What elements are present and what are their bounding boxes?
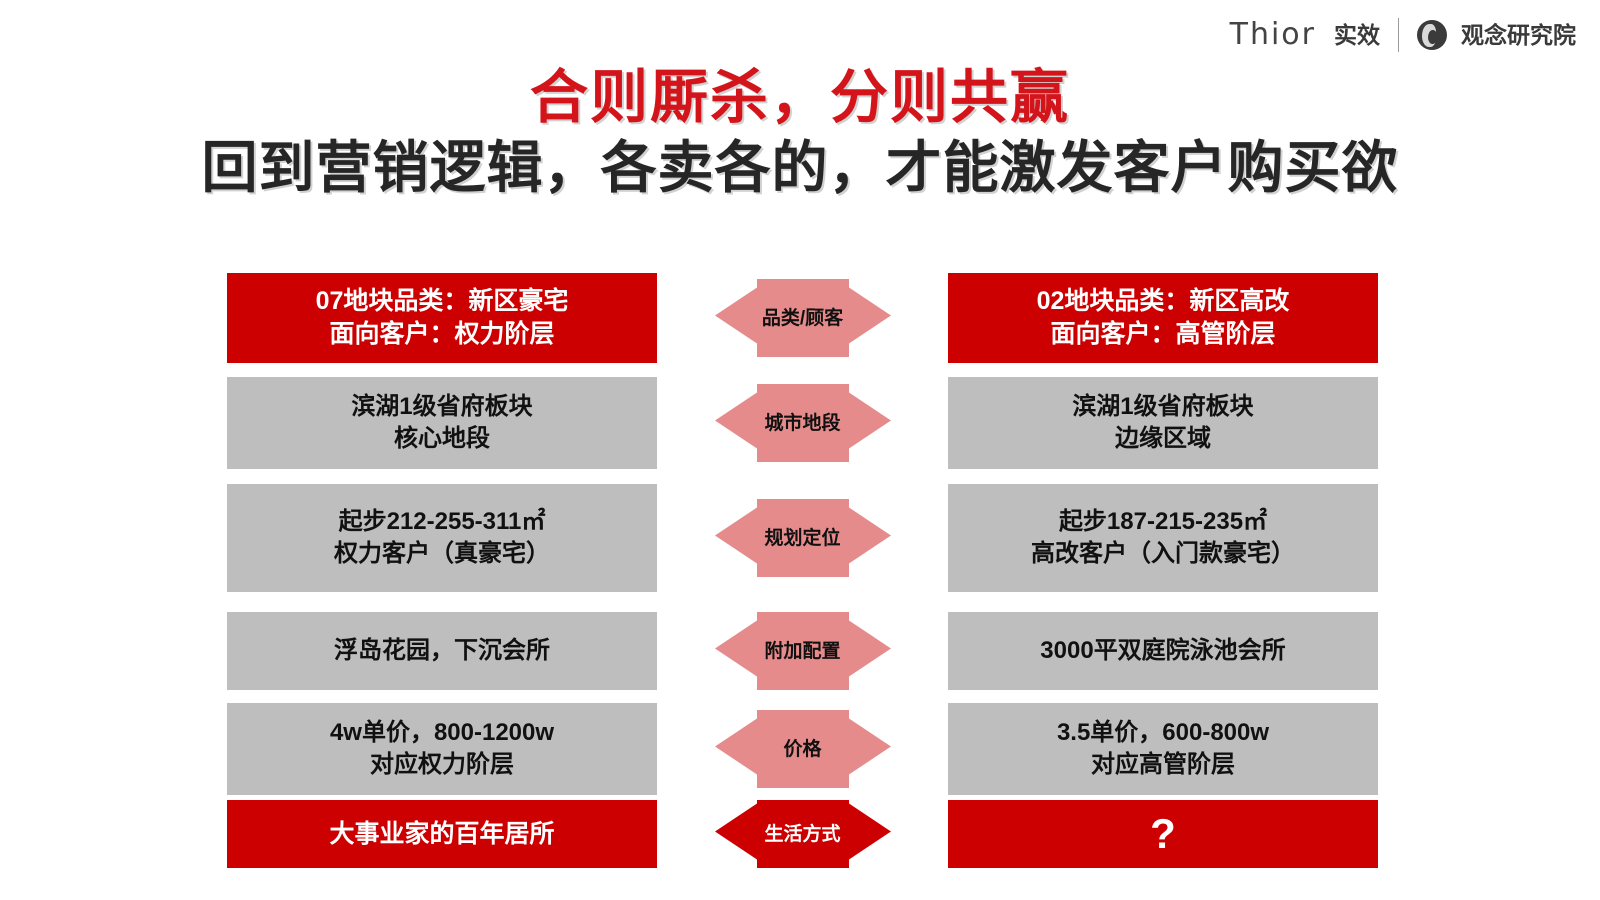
card-line: 4w单价，800-1200w (330, 717, 554, 749)
arrow-left-head-icon (715, 277, 757, 360)
connector-label: 附加配置 (757, 612, 849, 690)
arrow-left-head-icon (715, 798, 757, 871)
arrow-right-head-icon (849, 610, 891, 693)
card-line: 滨湖1级省府板块 (351, 391, 532, 423)
card-line: 起步187-215-235㎡ (1059, 506, 1267, 538)
compare-connector-2: 规划定位 (657, 484, 948, 592)
compare-connector-3: 附加配置 (657, 612, 948, 690)
card-line: 起步212-255-311㎡ (339, 506, 546, 538)
card-line: 3.5单价，600-800w (1057, 717, 1269, 749)
compare-connector-5: 生活方式 (657, 800, 948, 868)
compare-card-right-2: 起步187-215-235㎡高改客户（入门款豪宅） (948, 484, 1378, 592)
comparison-row: 浮岛花园，下沉会所附加配置3000平双庭院泳池会所 (227, 612, 1378, 690)
compare-card-right-4: 3.5单价，600-800w对应高管阶层 (948, 703, 1378, 795)
card-line: 面向客户：权力阶层 (329, 318, 554, 351)
connector-label: 生活方式 (757, 800, 849, 868)
brand-divider (1398, 18, 1399, 52)
brand-logo: Thior 实效 观念研究院 (1230, 18, 1576, 52)
card-line: 大事业家的百年居所 (329, 818, 554, 851)
arrow-right-head-icon (849, 277, 891, 360)
compare-card-right-0: 02地块品类：新区高改面向客户：高管阶层 (948, 273, 1378, 363)
double-arrow-icon: 附加配置 (715, 612, 891, 690)
arrow-left-head-icon (715, 708, 757, 791)
profile-face-icon (1417, 20, 1447, 50)
compare-connector-1: 城市地段 (657, 377, 948, 469)
question-mark: ? (1150, 813, 1176, 855)
double-arrow-icon: 价格 (715, 710, 891, 788)
compare-card-left-3: 浮岛花园，下沉会所 (227, 612, 657, 690)
card-line: 边缘区域 (1115, 423, 1211, 455)
arrow-right-head-icon (849, 708, 891, 791)
card-line: 对应权力阶层 (370, 749, 514, 781)
compare-card-right-1: 滨湖1级省府板块边缘区域 (948, 377, 1378, 469)
compare-card-left-4: 4w单价，800-1200w对应权力阶层 (227, 703, 657, 795)
title-sub: 回到营销逻辑，各卖各的，才能激发客户购买欲 (0, 136, 1600, 200)
card-line: 核心地段 (394, 423, 490, 455)
card-line: 滨湖1级省府板块 (1072, 391, 1253, 423)
comparison-row: 4w单价，800-1200w对应权力阶层价格3.5单价，600-800w对应高管… (227, 703, 1378, 795)
brand-cn-name: 实效 (1334, 24, 1380, 47)
card-line: 07地块品类：新区豪宅 (316, 285, 569, 318)
compare-card-left-1: 滨湖1级省府板块核心地段 (227, 377, 657, 469)
card-line: 高改客户（入门款豪宅） (1031, 538, 1295, 570)
compare-connector-4: 价格 (657, 703, 948, 795)
double-arrow-icon: 规划定位 (715, 499, 891, 577)
arrow-right-head-icon (849, 382, 891, 465)
double-arrow-icon: 品类/顾客 (715, 279, 891, 357)
compare-card-right-3: 3000平双庭院泳池会所 (948, 612, 1378, 690)
card-line: 权力客户（真豪宅） (334, 538, 550, 570)
page-title: 合则厮杀，分则共赢 回到营销逻辑，各卖各的，才能激发客户购买欲 (0, 66, 1600, 200)
connector-label: 城市地段 (757, 384, 849, 462)
arrow-left-head-icon (715, 382, 757, 465)
brand-institute-name: 观念研究院 (1461, 24, 1576, 47)
compare-card-right-5: ? (948, 800, 1378, 868)
double-arrow-icon: 城市地段 (715, 384, 891, 462)
card-line: 02地块品类：新区高改 (1037, 285, 1290, 318)
connector-label: 规划定位 (757, 499, 849, 577)
compare-connector-0: 品类/顾客 (657, 273, 948, 363)
card-line: 对应高管阶层 (1091, 749, 1235, 781)
card-line: 浮岛花园，下沉会所 (334, 635, 550, 667)
comparison-grid: 07地块品类：新区豪宅面向客户：权力阶层品类/顾客02地块品类：新区高改面向客户… (227, 273, 1378, 851)
title-main: 合则厮杀，分则共赢 (0, 66, 1600, 130)
arrow-right-head-icon (849, 798, 891, 871)
arrow-right-head-icon (849, 497, 891, 580)
connector-label: 品类/顾客 (757, 279, 849, 357)
comparison-row: 07地块品类：新区豪宅面向客户：权力阶层品类/顾客02地块品类：新区高改面向客户… (227, 273, 1378, 363)
compare-card-left-0: 07地块品类：新区豪宅面向客户：权力阶层 (227, 273, 657, 363)
brand-wordmark: Thior (1230, 20, 1316, 50)
comparison-row: 滨湖1级省府板块核心地段城市地段滨湖1级省府板块边缘区域 (227, 377, 1378, 469)
comparison-row: 起步212-255-311㎡权力客户（真豪宅）规划定位起步187-215-235… (227, 484, 1378, 592)
card-line: 面向客户：高管阶层 (1050, 318, 1275, 351)
card-line: 3000平双庭院泳池会所 (1040, 635, 1285, 667)
compare-card-left-5: 大事业家的百年居所 (227, 800, 657, 868)
double-arrow-icon: 生活方式 (715, 800, 891, 868)
arrow-left-head-icon (715, 610, 757, 693)
compare-card-left-2: 起步212-255-311㎡权力客户（真豪宅） (227, 484, 657, 592)
arrow-left-head-icon (715, 497, 757, 580)
comparison-row: 大事业家的百年居所生活方式? (227, 800, 1378, 868)
connector-label: 价格 (757, 710, 849, 788)
